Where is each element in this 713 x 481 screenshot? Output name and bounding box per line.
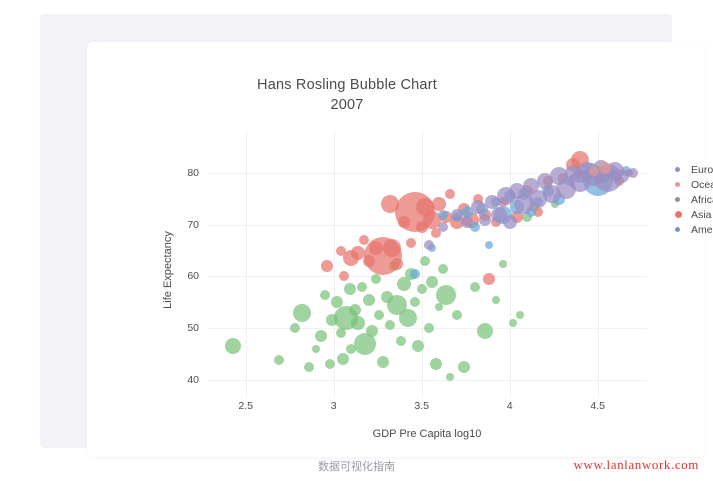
bubble-africa[interactable]	[420, 256, 430, 266]
y-tick-label: 70	[187, 219, 199, 231]
legend-marker-icon	[675, 211, 682, 218]
bubble-africa[interactable]	[396, 336, 406, 346]
legend-item-label: Asia	[691, 209, 711, 221]
page-panel: Hans Rosling Bubble Chart 2007 405060708…	[40, 14, 672, 448]
bubble-africa[interactable]	[516, 311, 524, 319]
bubble-africa[interactable]	[458, 361, 470, 373]
bubble-africa[interactable]	[410, 297, 420, 307]
legend-item-americas[interactable]: Americas	[675, 222, 713, 237]
chart-subtitle: 2007	[87, 95, 607, 115]
bubble-asia[interactable]	[445, 189, 455, 199]
y-tick-label: 40	[187, 374, 199, 386]
bubble-africa[interactable]	[274, 355, 284, 365]
bubble-africa[interactable]	[344, 283, 356, 295]
bubble-africa[interactable]	[446, 373, 454, 381]
bubble-asia[interactable]	[391, 258, 403, 270]
bubble-africa[interactable]	[351, 316, 365, 330]
gridline-vertical	[422, 134, 423, 398]
bubble-europe[interactable]	[628, 168, 638, 178]
bubble-europe[interactable]	[461, 216, 473, 228]
bubble-africa[interactable]	[312, 345, 320, 353]
bubble-africa[interactable]	[290, 323, 300, 333]
bubble-africa[interactable]	[452, 310, 462, 320]
bubble-africa[interactable]	[470, 282, 480, 292]
bubble-africa[interactable]	[366, 325, 378, 337]
legend-item-asia[interactable]: Asia	[675, 207, 713, 222]
y-axis-label: Life Expectancy	[162, 231, 174, 309]
bubble-africa[interactable]	[426, 276, 438, 288]
legend-marker-icon	[675, 197, 680, 202]
bubble-africa[interactable]	[320, 290, 330, 300]
bubble-americas[interactable]	[410, 269, 420, 279]
bubble-africa[interactable]	[225, 338, 241, 354]
bubble-europe[interactable]	[471, 200, 485, 214]
bubble-europe[interactable]	[424, 240, 434, 250]
legend-marker-icon	[675, 182, 680, 187]
x-axis-label: GDP Pre Capita log10	[207, 428, 647, 440]
x-tick-label: 4.5	[590, 400, 605, 412]
gridline-vertical	[510, 134, 511, 398]
bubble-africa[interactable]	[492, 296, 500, 304]
bubble-africa[interactable]	[325, 359, 335, 369]
legend-item-label: Europe	[691, 164, 713, 176]
bubble-africa[interactable]	[337, 353, 349, 365]
legend-item-label: Americas	[691, 224, 713, 236]
watermark: www.lanlanwork.com	[574, 457, 699, 473]
bubble-asia[interactable]	[321, 260, 333, 272]
bubble-europe[interactable]	[438, 222, 448, 232]
y-tick-label: 80	[187, 167, 199, 179]
gridline-vertical	[334, 134, 335, 398]
bubble-africa[interactable]	[336, 328, 346, 338]
bubble-africa[interactable]	[412, 340, 424, 352]
x-tick-label: 3	[331, 400, 337, 412]
bubble-africa[interactable]	[371, 274, 381, 284]
bubble-africa[interactable]	[385, 320, 395, 330]
bubble-africa[interactable]	[499, 260, 507, 268]
bubble-africa[interactable]	[430, 358, 442, 370]
bubble-oceania[interactable]	[589, 166, 599, 176]
bubble-africa[interactable]	[315, 330, 327, 342]
legend-item-europe[interactable]: Europe	[675, 162, 713, 177]
bubble-asia[interactable]	[339, 271, 349, 281]
bubble-africa[interactable]	[438, 264, 448, 274]
chart-legend: EuropeOceaniaAfricaAsiaAmericas	[675, 162, 713, 237]
bubble-africa[interactable]	[477, 323, 493, 339]
y-tick-label: 60	[187, 270, 199, 282]
legend-marker-icon	[675, 227, 680, 232]
legend-item-oceania[interactable]: Oceania	[675, 177, 713, 192]
bubble-oceania[interactable]	[599, 162, 611, 174]
bubble-africa[interactable]	[293, 304, 311, 322]
bubble-africa[interactable]	[417, 284, 427, 294]
legend-item-label: Oceania	[691, 179, 713, 191]
gridline-vertical	[246, 134, 247, 398]
bubble-asia[interactable]	[483, 273, 495, 285]
chart-title-main: Hans Rosling Bubble Chart	[257, 77, 437, 93]
bubble-africa[interactable]	[349, 304, 361, 316]
bubble-africa[interactable]	[399, 309, 417, 327]
bubble-africa[interactable]	[377, 356, 389, 368]
bubble-americas[interactable]	[485, 241, 493, 249]
x-tick-label: 4	[507, 400, 513, 412]
bubble-africa[interactable]	[436, 285, 456, 305]
plot-area: 4050607080 2.533.544.5 GDP Pre Capita lo…	[207, 150, 647, 390]
bubble-africa[interactable]	[374, 310, 384, 320]
chart-card: Hans Rosling Bubble Chart 2007 405060708…	[87, 42, 705, 457]
bubble-africa[interactable]	[357, 282, 367, 292]
bubble-africa[interactable]	[363, 294, 375, 306]
legend-marker-icon	[675, 167, 680, 172]
bubble-europe[interactable]	[479, 214, 491, 226]
bubble-asia[interactable]	[383, 239, 401, 257]
bubble-africa[interactable]	[304, 362, 314, 372]
bubble-asia[interactable]	[406, 238, 416, 248]
bubble-americas[interactable]	[438, 210, 448, 220]
x-tick-label: 3.5	[414, 400, 429, 412]
gridline-horizontal	[207, 380, 647, 381]
chart-title: Hans Rosling Bubble Chart 2007	[87, 75, 607, 115]
bubble-africa[interactable]	[424, 323, 434, 333]
legend-item-label: Africa	[691, 194, 713, 206]
bubble-africa[interactable]	[509, 319, 517, 327]
y-tick-label: 50	[187, 322, 199, 334]
bubble-africa[interactable]	[435, 303, 443, 311]
x-tick-label: 2.5	[238, 400, 253, 412]
bubble-europe[interactable]	[503, 215, 517, 229]
legend-item-africa[interactable]: Africa	[675, 192, 713, 207]
